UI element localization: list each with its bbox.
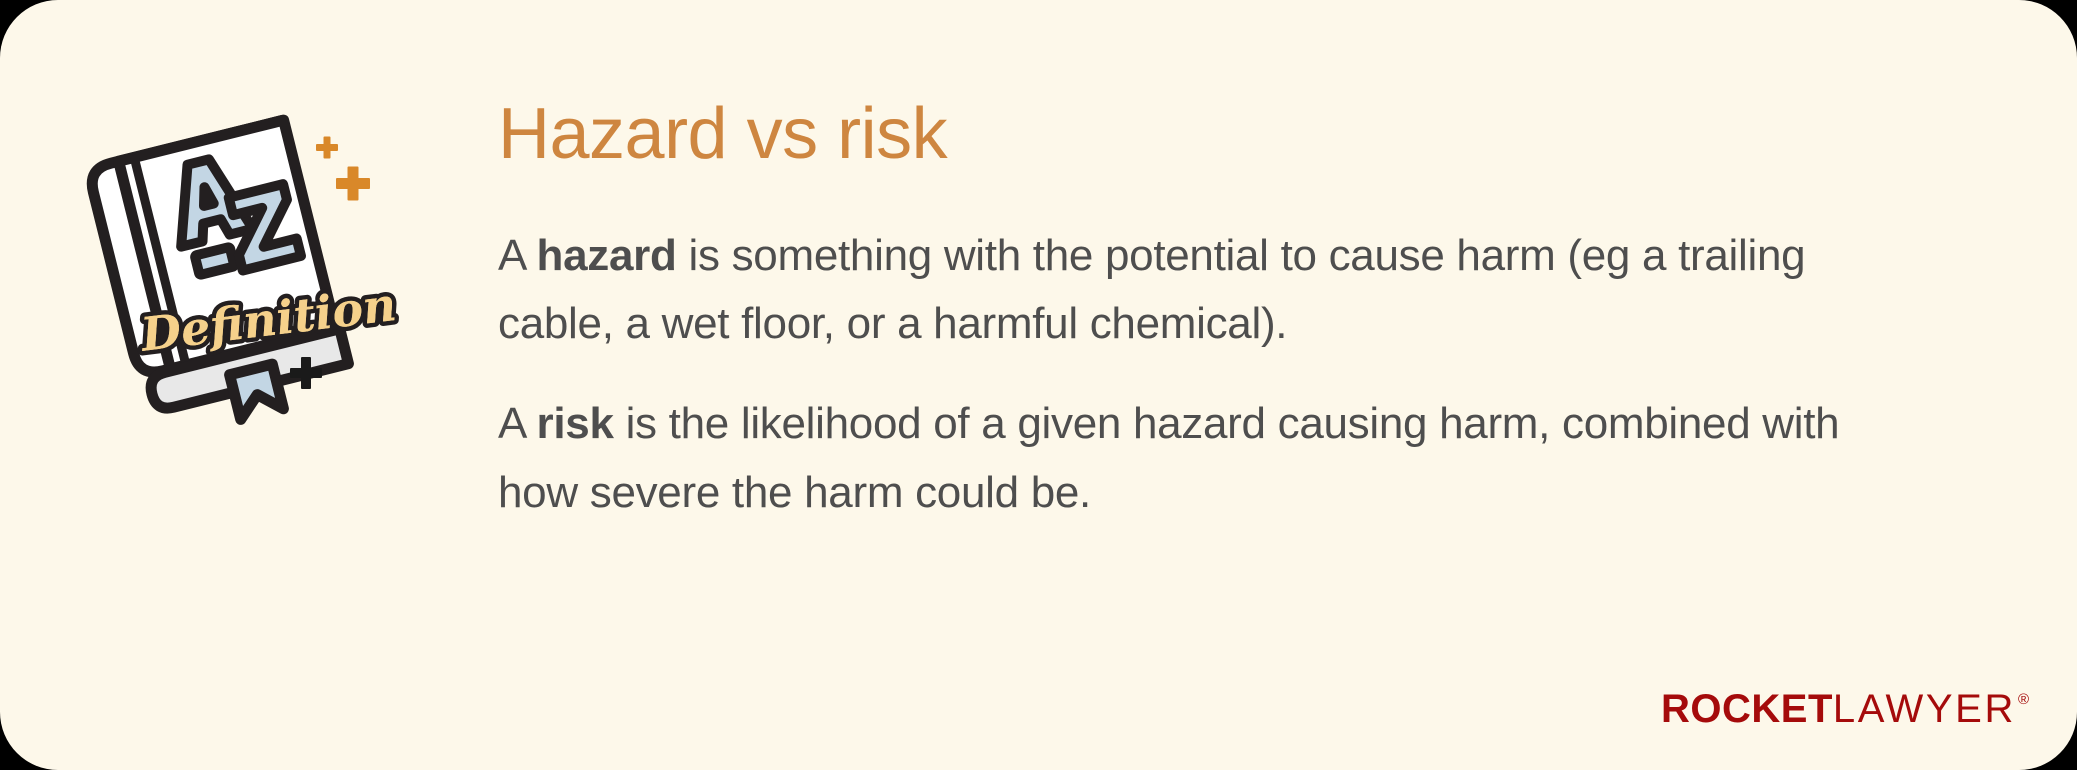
- risk-rest-text: is the likelihood of a given hazard caus…: [498, 399, 1839, 516]
- plus-small-orange-icon: [316, 137, 338, 159]
- hazard-keyword: hazard: [537, 231, 677, 280]
- registered-trademark-icon: ®: [2018, 691, 2029, 708]
- plus-large-orange-icon: [336, 167, 370, 201]
- hazard-rest-text: is something with the potential to cause…: [498, 231, 1805, 348]
- info-card: Definition Definition Hazard vs: [0, 0, 2077, 770]
- definition-paragraph-hazard: A hazard is something with the potential…: [498, 222, 1918, 358]
- logo-secondary-text: LAWYER: [1833, 687, 2016, 732]
- a-z-definition-book-illustration: Definition Definition: [62, 96, 392, 426]
- definition-paragraph-risk: A risk is the likelihood of a given haza…: [498, 390, 1918, 526]
- risk-lead-text: A: [498, 399, 537, 448]
- hazard-lead-text: A: [498, 231, 537, 280]
- letter-hyphen-glyph: [195, 247, 235, 275]
- content-column: Hazard vs risk A hazard is something wit…: [498, 98, 1918, 527]
- risk-keyword: risk: [537, 399, 614, 448]
- page-title: Hazard vs risk: [498, 98, 1918, 170]
- bookmark-ribbon: [230, 364, 284, 419]
- rocket-lawyer-logo: ROCKETLAWYER®: [1661, 687, 2029, 732]
- logo-primary-text: ROCKET: [1661, 687, 1833, 732]
